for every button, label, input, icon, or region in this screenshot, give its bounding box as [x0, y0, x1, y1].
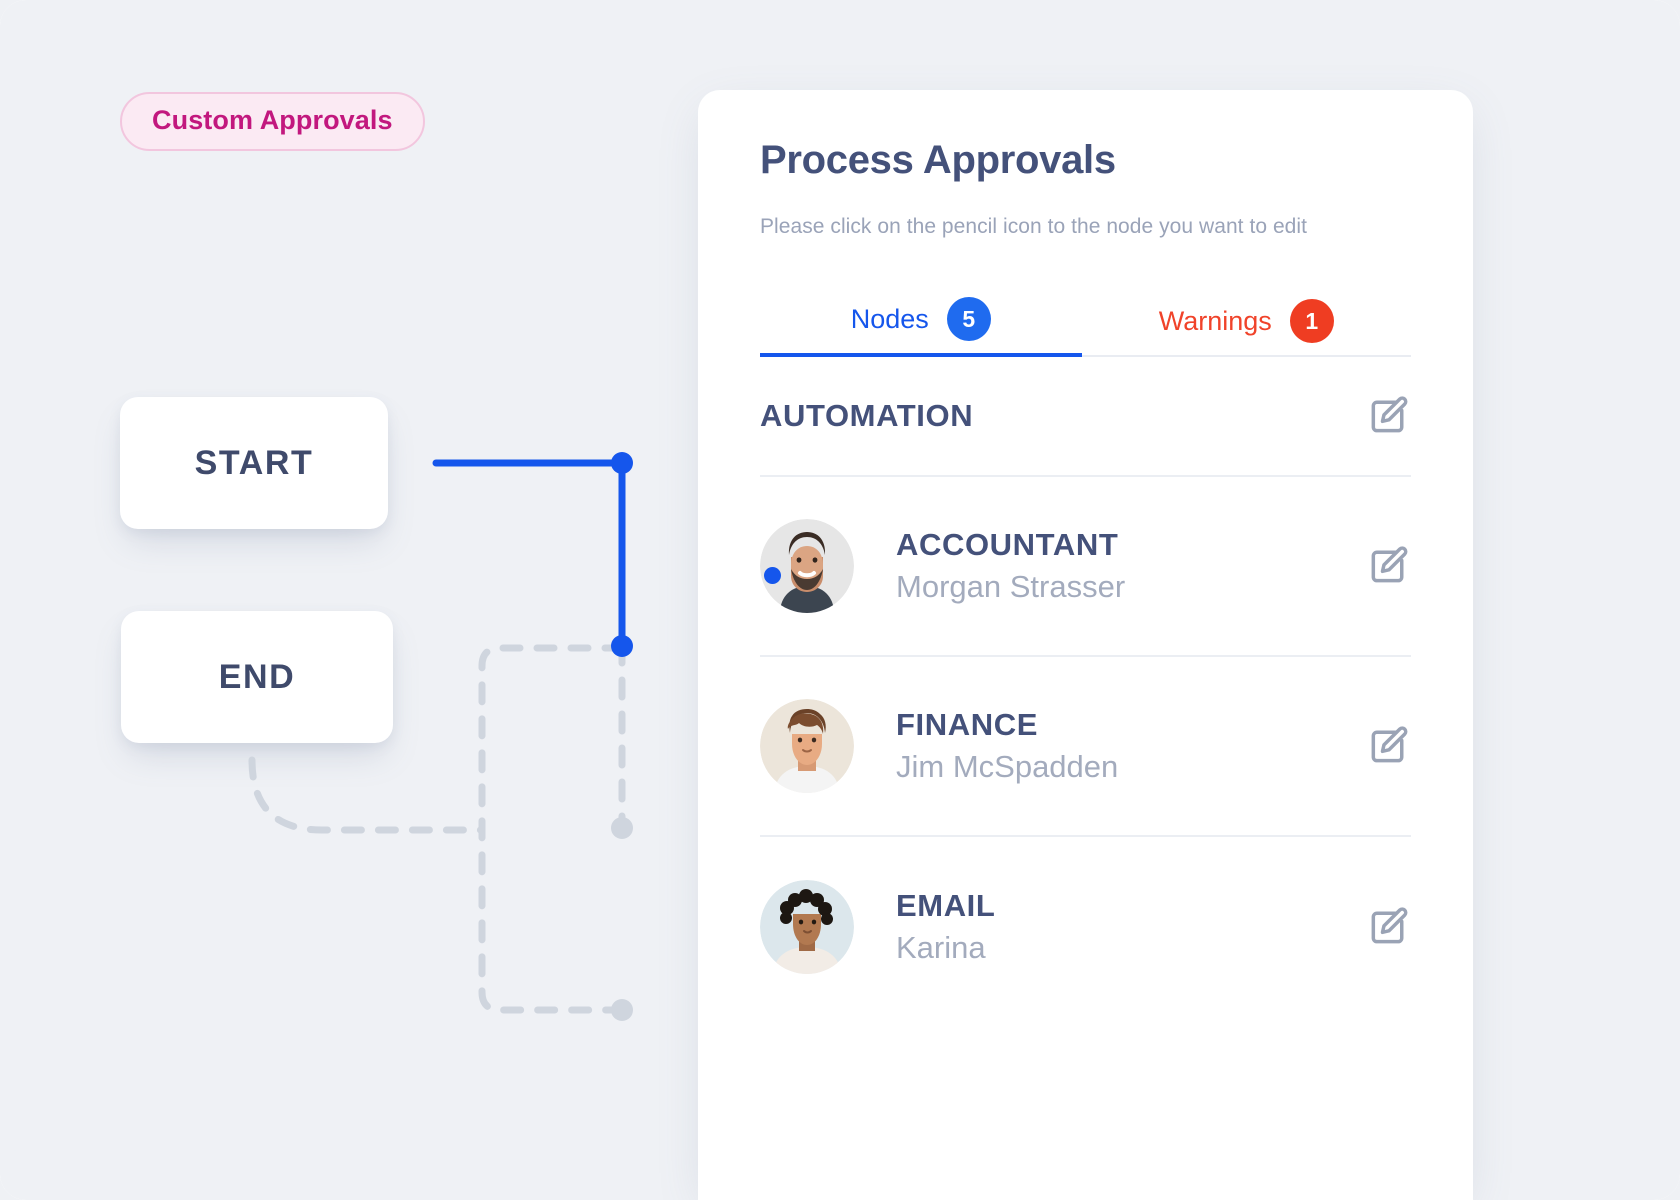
tab-nodes-badge: 5	[947, 297, 991, 341]
avatar	[760, 880, 854, 974]
list-item-finance[interactable]: FINANCE Jim McSpadden	[760, 657, 1411, 837]
panel-tabs: Nodes 5 Warnings 1	[760, 285, 1411, 357]
connector-wires	[0, 0, 700, 1200]
port-dot-inactive-2[interactable]	[611, 999, 633, 1021]
edit-email-button[interactable]	[1365, 904, 1411, 950]
avatar-bearded-man	[760, 519, 854, 613]
port-dot-active-2[interactable]	[611, 635, 633, 657]
list-item-email[interactable]: EMAIL Karina	[760, 837, 1411, 1017]
person-name-label: Jim McSpadden	[896, 749, 1118, 785]
person-role-label: EMAIL	[896, 888, 995, 924]
connector-dashed-from-end	[252, 760, 482, 830]
status-dot-active	[764, 567, 781, 584]
connector-active-path	[436, 463, 622, 646]
pencil-edit-icon	[1366, 905, 1410, 949]
person-role-label: FINANCE	[896, 707, 1118, 743]
tab-warnings[interactable]: Warnings 1	[1082, 285, 1412, 357]
list-item-accountant[interactable]: ACCOUNTANT Morgan Strasser	[760, 477, 1411, 657]
list-item-automation[interactable]: AUTOMATION	[760, 357, 1411, 477]
edit-finance-button[interactable]	[1365, 723, 1411, 769]
page-corner-top-right	[1654, 0, 1680, 26]
pencil-edit-icon	[1366, 724, 1410, 768]
page-subtitle: Please click on the pencil icon to the n…	[760, 215, 1411, 239]
connector-dashed-loop	[482, 648, 622, 1010]
pencil-edit-icon	[1366, 544, 1410, 588]
person-role-label: ACCOUNTANT	[896, 527, 1125, 563]
page-corner-bottom-right	[1654, 1174, 1680, 1200]
person-name-label: Morgan Strasser	[896, 569, 1125, 605]
tab-warnings-label: Warnings	[1159, 308, 1272, 335]
edit-accountant-button[interactable]	[1365, 543, 1411, 589]
tab-nodes-label: Nodes	[851, 306, 929, 333]
port-dot-active-1[interactable]	[611, 452, 633, 474]
edit-automation-button[interactable]	[1365, 393, 1411, 439]
tab-nodes[interactable]: Nodes 5	[760, 285, 1082, 357]
person-name-label: Karina	[896, 930, 995, 966]
avatar	[760, 519, 854, 613]
person-text: FINANCE Jim McSpadden	[896, 707, 1118, 784]
workflow-canvas: Custom Approvals START END	[0, 0, 700, 1200]
automation-role-label: AUTOMATION	[760, 398, 973, 434]
avatar	[760, 699, 854, 793]
avatar-curly-haired-man	[760, 699, 854, 793]
port-dot-inactive-1[interactable]	[611, 817, 633, 839]
person-text: ACCOUNTANT Morgan Strasser	[896, 527, 1125, 604]
pencil-edit-icon	[1366, 394, 1410, 438]
app-root: Custom Approvals START END Process Appro…	[0, 0, 1680, 1200]
tab-warnings-badge: 1	[1290, 299, 1334, 343]
page-title: Process Approvals	[760, 138, 1411, 183]
approvals-panel: Process Approvals Please click on the pe…	[698, 90, 1473, 1200]
person-text: EMAIL Karina	[896, 888, 995, 965]
avatar-curly-haired-woman	[760, 880, 854, 974]
